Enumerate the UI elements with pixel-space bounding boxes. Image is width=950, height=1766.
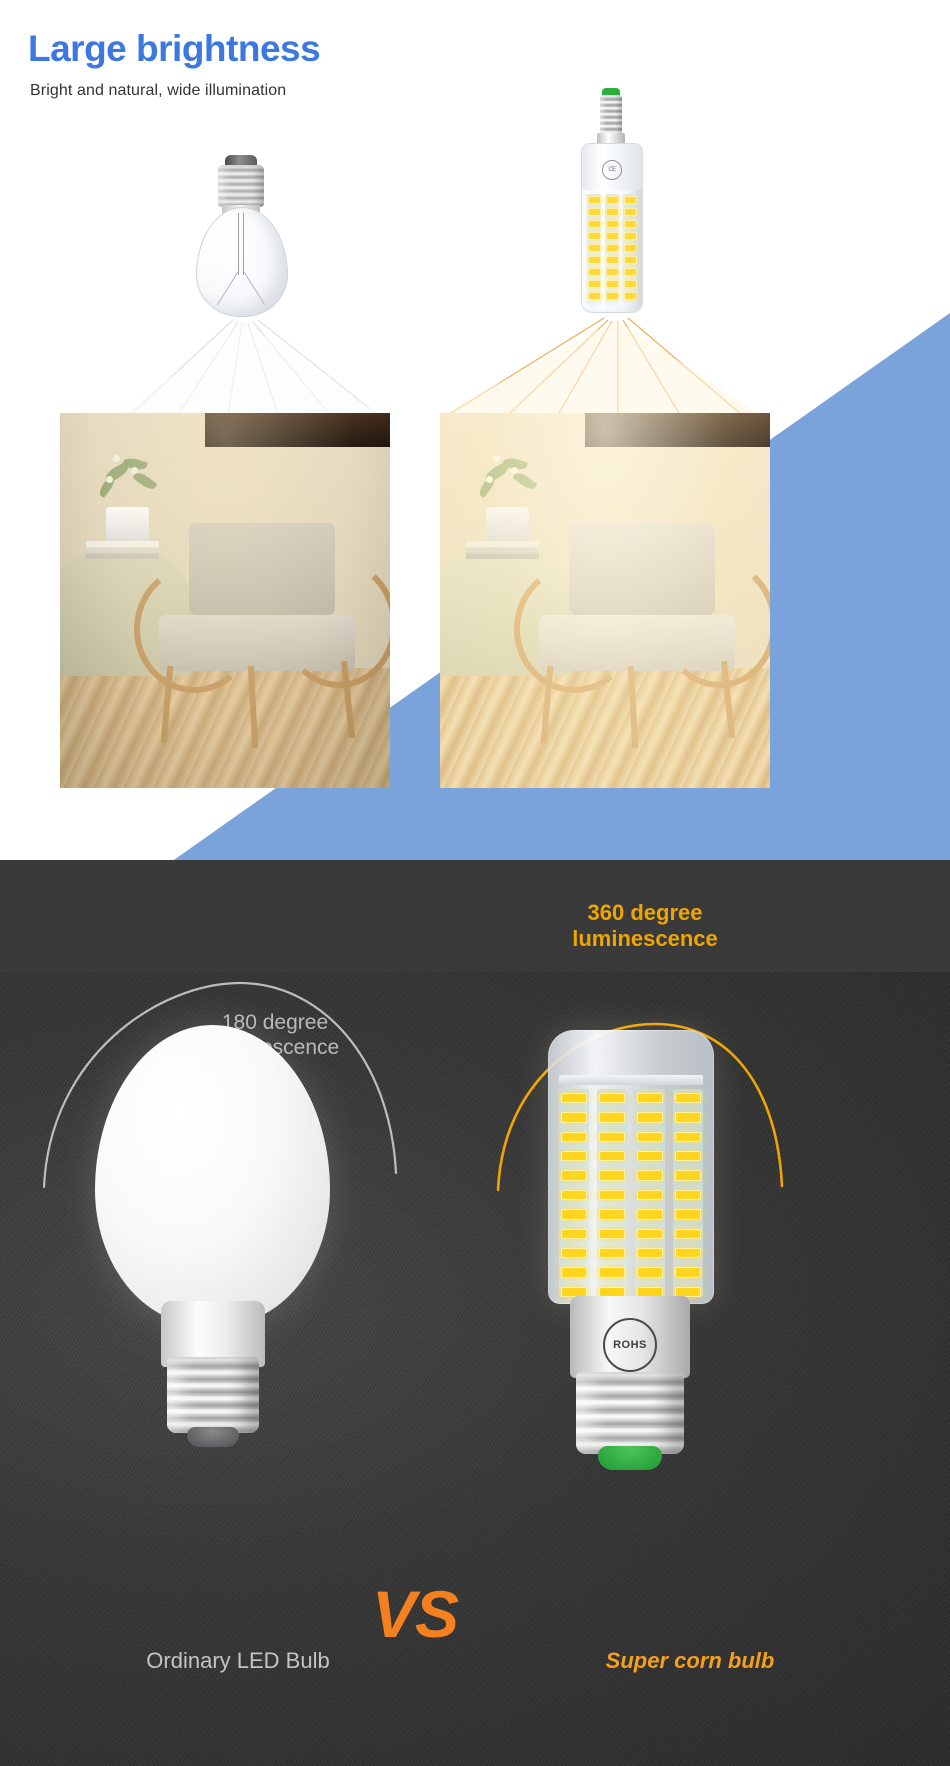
led-chip (606, 232, 619, 240)
led-chip (561, 1112, 587, 1122)
chair-leg (627, 666, 637, 748)
led-chip (599, 1093, 625, 1103)
led-chip (588, 280, 601, 288)
led-chip (606, 256, 619, 264)
led-chip (675, 1151, 701, 1161)
armchair (519, 503, 770, 758)
led-chip (599, 1229, 625, 1239)
corn-bulb-screw-base (576, 1372, 684, 1454)
led-chip (675, 1132, 701, 1142)
led-chip (606, 208, 619, 216)
incandescent-bulb-icon (196, 155, 286, 315)
led-chip (624, 232, 637, 240)
corn-bulb-housing: ROHS (570, 1296, 690, 1378)
led-chip (624, 220, 637, 228)
room-scene (60, 413, 390, 788)
led-chip (561, 1209, 587, 1219)
corn-bulb-led-column (635, 1089, 665, 1297)
led-chip (588, 244, 601, 252)
led-chip (561, 1170, 587, 1180)
led-chip (561, 1093, 587, 1103)
led-chip (588, 256, 601, 264)
led-chip (637, 1190, 663, 1200)
led-chip (624, 196, 637, 204)
led-chip (561, 1132, 587, 1142)
corn-bulb-icon: CE (573, 88, 649, 316)
room-photo-corn-bulb (440, 413, 770, 788)
corn-bulb-led-column (605, 194, 619, 306)
led-bulb-diffuser (95, 1025, 330, 1325)
led-chip (675, 1170, 701, 1180)
label-super-corn-bulb: Super corn bulb (540, 1648, 840, 1674)
led-chip (599, 1112, 625, 1122)
led-chip (675, 1112, 701, 1122)
led-chip (637, 1151, 663, 1161)
led-chip (637, 1248, 663, 1258)
led-chip (637, 1209, 663, 1219)
led-chip (561, 1151, 587, 1161)
ceiling-beam (205, 413, 390, 447)
led-chip (637, 1112, 663, 1122)
led-chip (599, 1170, 625, 1180)
bulb-screw-thread (218, 165, 264, 207)
corn-bulb-cover (548, 1030, 714, 1304)
led-chip (675, 1209, 701, 1219)
led-chip (624, 256, 637, 264)
ordinary-led-bulb-image (95, 1025, 330, 1445)
led-chip (637, 1093, 663, 1103)
bulb-filament-cone (214, 271, 268, 307)
page-title: Large brightness (28, 30, 320, 67)
led-chip (588, 196, 601, 204)
led-chip (599, 1190, 625, 1200)
bulb-filament-wire (238, 213, 239, 275)
corn-bulb-led-column (597, 1089, 627, 1297)
led-chip (637, 1229, 663, 1239)
led-chip (588, 208, 601, 216)
label-line-1: 360 degree (588, 900, 703, 925)
led-chip (561, 1190, 587, 1200)
corn-bulb-led-column (673, 1089, 703, 1297)
led-chip (624, 292, 637, 300)
led-chip (606, 196, 619, 204)
led-bulb-screw-base (167, 1357, 259, 1433)
led-chip (624, 208, 637, 216)
led-chip (675, 1093, 701, 1103)
led-chip (606, 268, 619, 276)
led-chip (606, 244, 619, 252)
bulb-filament-wire (243, 213, 244, 275)
ceiling-beam (585, 413, 770, 447)
corn-bulb-green-tip (598, 1446, 662, 1470)
led-chip (606, 280, 619, 288)
led-chip (599, 1267, 625, 1277)
led-chip (588, 220, 601, 228)
label-line-2: luminescence (572, 926, 718, 951)
corn-bulb-screw-base (600, 95, 622, 135)
room-scene (440, 413, 770, 788)
led-chip (561, 1248, 587, 1258)
led-chip (588, 268, 601, 276)
led-bulb-contact-tip (187, 1427, 239, 1447)
super-corn-bulb-image: ROHS (540, 1030, 720, 1480)
led-chip (599, 1248, 625, 1258)
label-360-degree: 360 degree luminescence (505, 900, 785, 953)
corn-bulb-led-column (587, 194, 601, 306)
versus-label: VS (372, 1576, 458, 1652)
led-chip (599, 1209, 625, 1219)
led-chip (606, 292, 619, 300)
led-chip (561, 1267, 587, 1277)
chair-leg (247, 666, 257, 748)
corn-bulb-led-column (623, 194, 637, 306)
led-chip (599, 1132, 625, 1142)
led-chip (624, 268, 637, 276)
led-chip (675, 1248, 701, 1258)
led-chip (675, 1229, 701, 1239)
led-chip (675, 1190, 701, 1200)
led-chip (637, 1170, 663, 1180)
led-chip (637, 1132, 663, 1142)
armchair (139, 503, 390, 758)
led-chip (606, 220, 619, 228)
corn-bulb-pcb-top (559, 1075, 703, 1085)
led-chip (624, 244, 637, 252)
led-chip (561, 1229, 587, 1239)
top-brightness-section: Large brightness Bright and natural, wid… (0, 0, 950, 972)
page-subtitle: Bright and natural, wide illumination (30, 82, 286, 100)
corn-bulb-led-array (585, 194, 639, 306)
led-chip (675, 1267, 701, 1277)
led-chip (588, 292, 601, 300)
led-chip (637, 1267, 663, 1277)
room-photo-incandescent (60, 413, 390, 788)
corn-bulb-led-column (559, 1089, 589, 1297)
ce-mark-icon: CE (602, 160, 622, 180)
led-chip (588, 232, 601, 240)
corn-bulb-led-array (559, 1089, 703, 1297)
rohs-mark-icon: ROHS (603, 1318, 657, 1372)
led-chip (624, 280, 637, 288)
corn-bulb-body: CE (581, 143, 643, 313)
label-ordinary-led-bulb: Ordinary LED Bulb (98, 1648, 378, 1674)
product-infographic: Large brightness Bright and natural, wid… (0, 0, 950, 1766)
led-chip (599, 1151, 625, 1161)
